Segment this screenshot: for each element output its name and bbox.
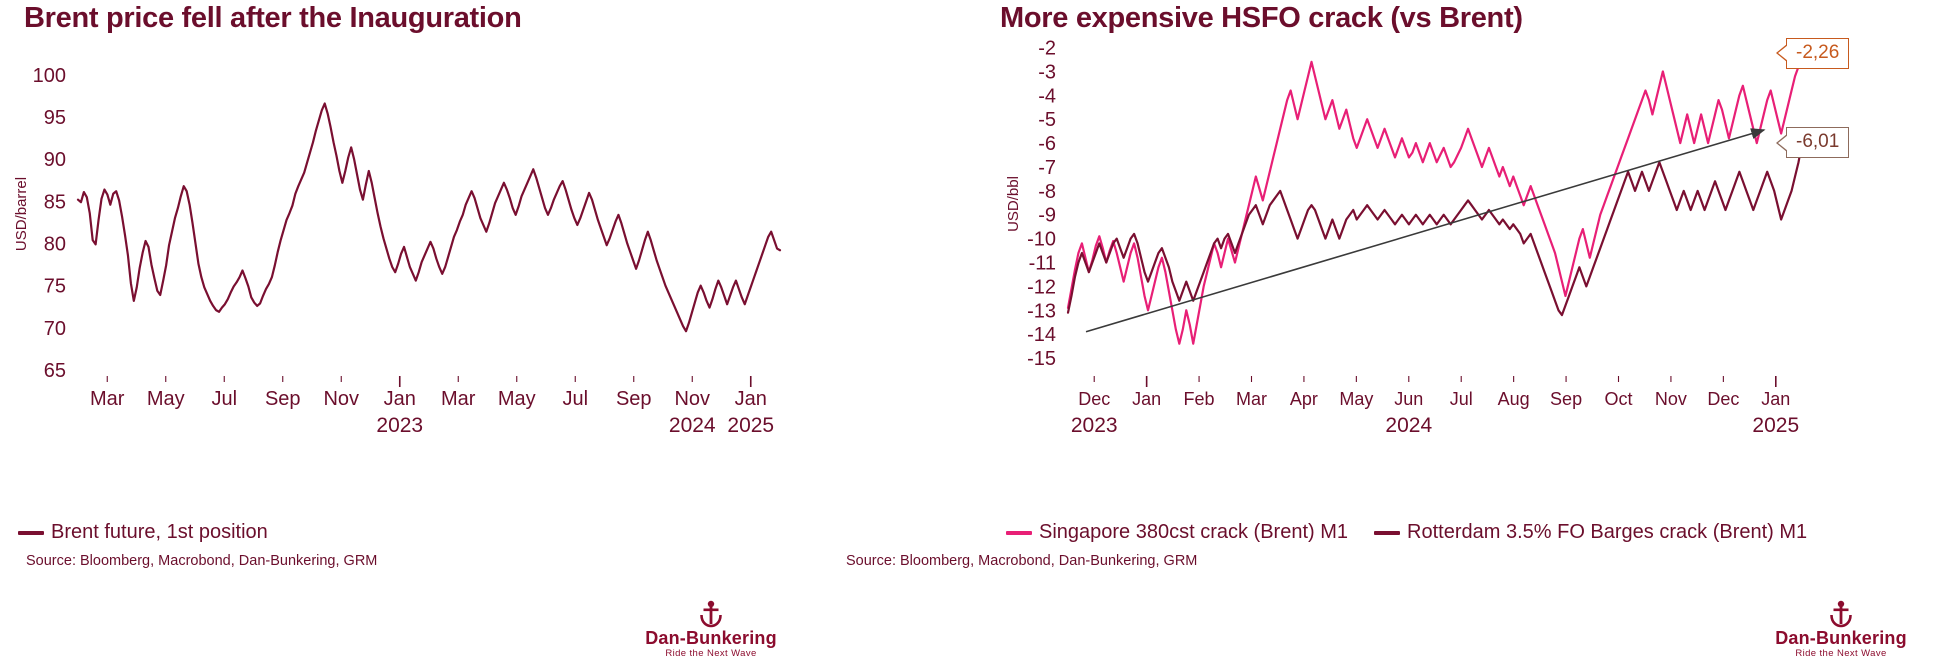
chart-right-svg: -2-3-4-5-6-7-8-9-10-11-12-13-14-15USD/bb… bbox=[976, 0, 1952, 520]
legend-label: Brent future, 1st position bbox=[51, 521, 268, 544]
svg-text:-9: -9 bbox=[1038, 205, 1056, 227]
svg-text:2024: 2024 bbox=[1385, 414, 1432, 437]
legend-item[interactable]: Rotterdam 3.5% FO Barges crack (Brent) M… bbox=[1374, 521, 1807, 544]
end-value-callout-singapore: -2,26 bbox=[1786, 38, 1849, 69]
svg-text:-11: -11 bbox=[1029, 253, 1056, 275]
svg-text:-15: -15 bbox=[1027, 348, 1056, 370]
dashboard: Brent price fell after the Inauguration … bbox=[0, 0, 1952, 668]
svg-text:Apr: Apr bbox=[1290, 389, 1318, 409]
callout-value: -6,01 bbox=[1796, 131, 1839, 153]
svg-text:Jul: Jul bbox=[1450, 389, 1473, 409]
brand-name: Dan-Bunkering bbox=[1766, 629, 1916, 647]
svg-text:Jun: Jun bbox=[1394, 389, 1423, 409]
svg-text:Dec: Dec bbox=[1707, 389, 1739, 409]
line-swatch-icon bbox=[1374, 531, 1400, 535]
svg-text:-12: -12 bbox=[1027, 276, 1056, 298]
brand-logo-left: Dan-Bunkering Ride the Next Wave bbox=[636, 600, 786, 659]
legend-label: Singapore 380cst crack (Brent) M1 bbox=[1039, 521, 1348, 544]
svg-text:-4: -4 bbox=[1038, 85, 1056, 107]
brand-tagline: Ride the Next Wave bbox=[1766, 649, 1916, 659]
panel-hsfo-crack: More expensive HSFO crack (vs Brent) -2-… bbox=[976, 0, 1952, 668]
svg-text:-6: -6 bbox=[1038, 133, 1056, 155]
svg-text:Jan: Jan bbox=[384, 388, 416, 410]
svg-text:75: 75 bbox=[44, 276, 66, 298]
svg-text:-2: -2 bbox=[1038, 38, 1056, 60]
svg-text:Sep: Sep bbox=[616, 388, 652, 410]
svg-text:Jul: Jul bbox=[211, 388, 237, 410]
brand-name: Dan-Bunkering bbox=[636, 629, 786, 647]
svg-text:Dec: Dec bbox=[1078, 389, 1110, 409]
svg-text:Jan: Jan bbox=[1132, 389, 1161, 409]
source-note-right: Source: Bloomberg, Macrobond, Dan-Bunker… bbox=[846, 553, 1197, 569]
svg-text:2025: 2025 bbox=[1752, 414, 1799, 437]
svg-text:May: May bbox=[498, 388, 536, 410]
svg-text:USD/barrel: USD/barrel bbox=[13, 177, 30, 251]
svg-text:65: 65 bbox=[44, 360, 66, 382]
brand-tagline: Ride the Next Wave bbox=[636, 649, 786, 659]
svg-text:Mar: Mar bbox=[1236, 389, 1267, 409]
svg-text:-13: -13 bbox=[1027, 300, 1056, 322]
line-swatch-icon bbox=[1006, 531, 1032, 535]
chart-left-svg: 65707580859095100USD/barrelMarMayJulSepN… bbox=[0, 0, 976, 520]
svg-text:-10: -10 bbox=[1027, 229, 1056, 251]
svg-text:Sep: Sep bbox=[265, 388, 301, 410]
line-swatch-icon bbox=[18, 531, 44, 535]
callout-value: -2,26 bbox=[1796, 42, 1839, 64]
svg-text:100: 100 bbox=[33, 65, 66, 87]
svg-text:2023: 2023 bbox=[376, 414, 423, 437]
svg-text:2024: 2024 bbox=[669, 414, 716, 437]
legend-label: Rotterdam 3.5% FO Barges crack (Brent) M… bbox=[1407, 521, 1807, 544]
svg-text:2025: 2025 bbox=[727, 414, 774, 437]
svg-text:-8: -8 bbox=[1038, 181, 1056, 203]
svg-text:90: 90 bbox=[44, 149, 66, 171]
svg-text:-3: -3 bbox=[1038, 61, 1056, 83]
svg-text:Jan: Jan bbox=[1761, 389, 1790, 409]
legend-item[interactable]: Brent future, 1st position bbox=[18, 521, 268, 544]
panel-brent-price: Brent price fell after the Inauguration … bbox=[0, 0, 976, 668]
svg-text:Feb: Feb bbox=[1184, 389, 1215, 409]
svg-text:Jan: Jan bbox=[735, 388, 767, 410]
svg-text:Nov: Nov bbox=[323, 388, 359, 410]
anchor-icon bbox=[1828, 600, 1854, 628]
svg-text:Aug: Aug bbox=[1498, 389, 1530, 409]
svg-text:Jul: Jul bbox=[562, 388, 588, 410]
end-value-callout-rotterdam: -6,01 bbox=[1786, 127, 1849, 158]
svg-text:Nov: Nov bbox=[1655, 389, 1687, 409]
anchor-icon bbox=[698, 600, 724, 628]
svg-text:Sep: Sep bbox=[1550, 389, 1582, 409]
svg-text:Mar: Mar bbox=[90, 388, 125, 410]
svg-text:May: May bbox=[147, 388, 185, 410]
svg-text:Mar: Mar bbox=[441, 388, 476, 410]
svg-text:Oct: Oct bbox=[1604, 389, 1632, 409]
svg-text:Nov: Nov bbox=[674, 388, 710, 410]
legend-item[interactable]: Singapore 380cst crack (Brent) M1 bbox=[1006, 521, 1348, 544]
svg-text:80: 80 bbox=[44, 234, 66, 256]
brand-logo-right: Dan-Bunkering Ride the Next Wave bbox=[1766, 600, 1916, 659]
svg-text:-14: -14 bbox=[1027, 324, 1056, 346]
svg-text:USD/bbl: USD/bbl bbox=[1005, 176, 1022, 232]
legend-left: Brent future, 1st position bbox=[18, 521, 294, 544]
svg-text:-5: -5 bbox=[1038, 109, 1056, 131]
svg-text:2023: 2023 bbox=[1071, 414, 1118, 437]
legend-right: Singapore 380cst crack (Brent) M1 Rotter… bbox=[1006, 521, 1833, 544]
svg-text:-7: -7 bbox=[1038, 157, 1056, 179]
svg-text:95: 95 bbox=[44, 107, 66, 129]
svg-text:85: 85 bbox=[44, 191, 66, 213]
source-note-left: Source: Bloomberg, Macrobond, Dan-Bunker… bbox=[26, 553, 377, 569]
svg-text:70: 70 bbox=[44, 318, 66, 340]
svg-text:May: May bbox=[1339, 389, 1373, 409]
